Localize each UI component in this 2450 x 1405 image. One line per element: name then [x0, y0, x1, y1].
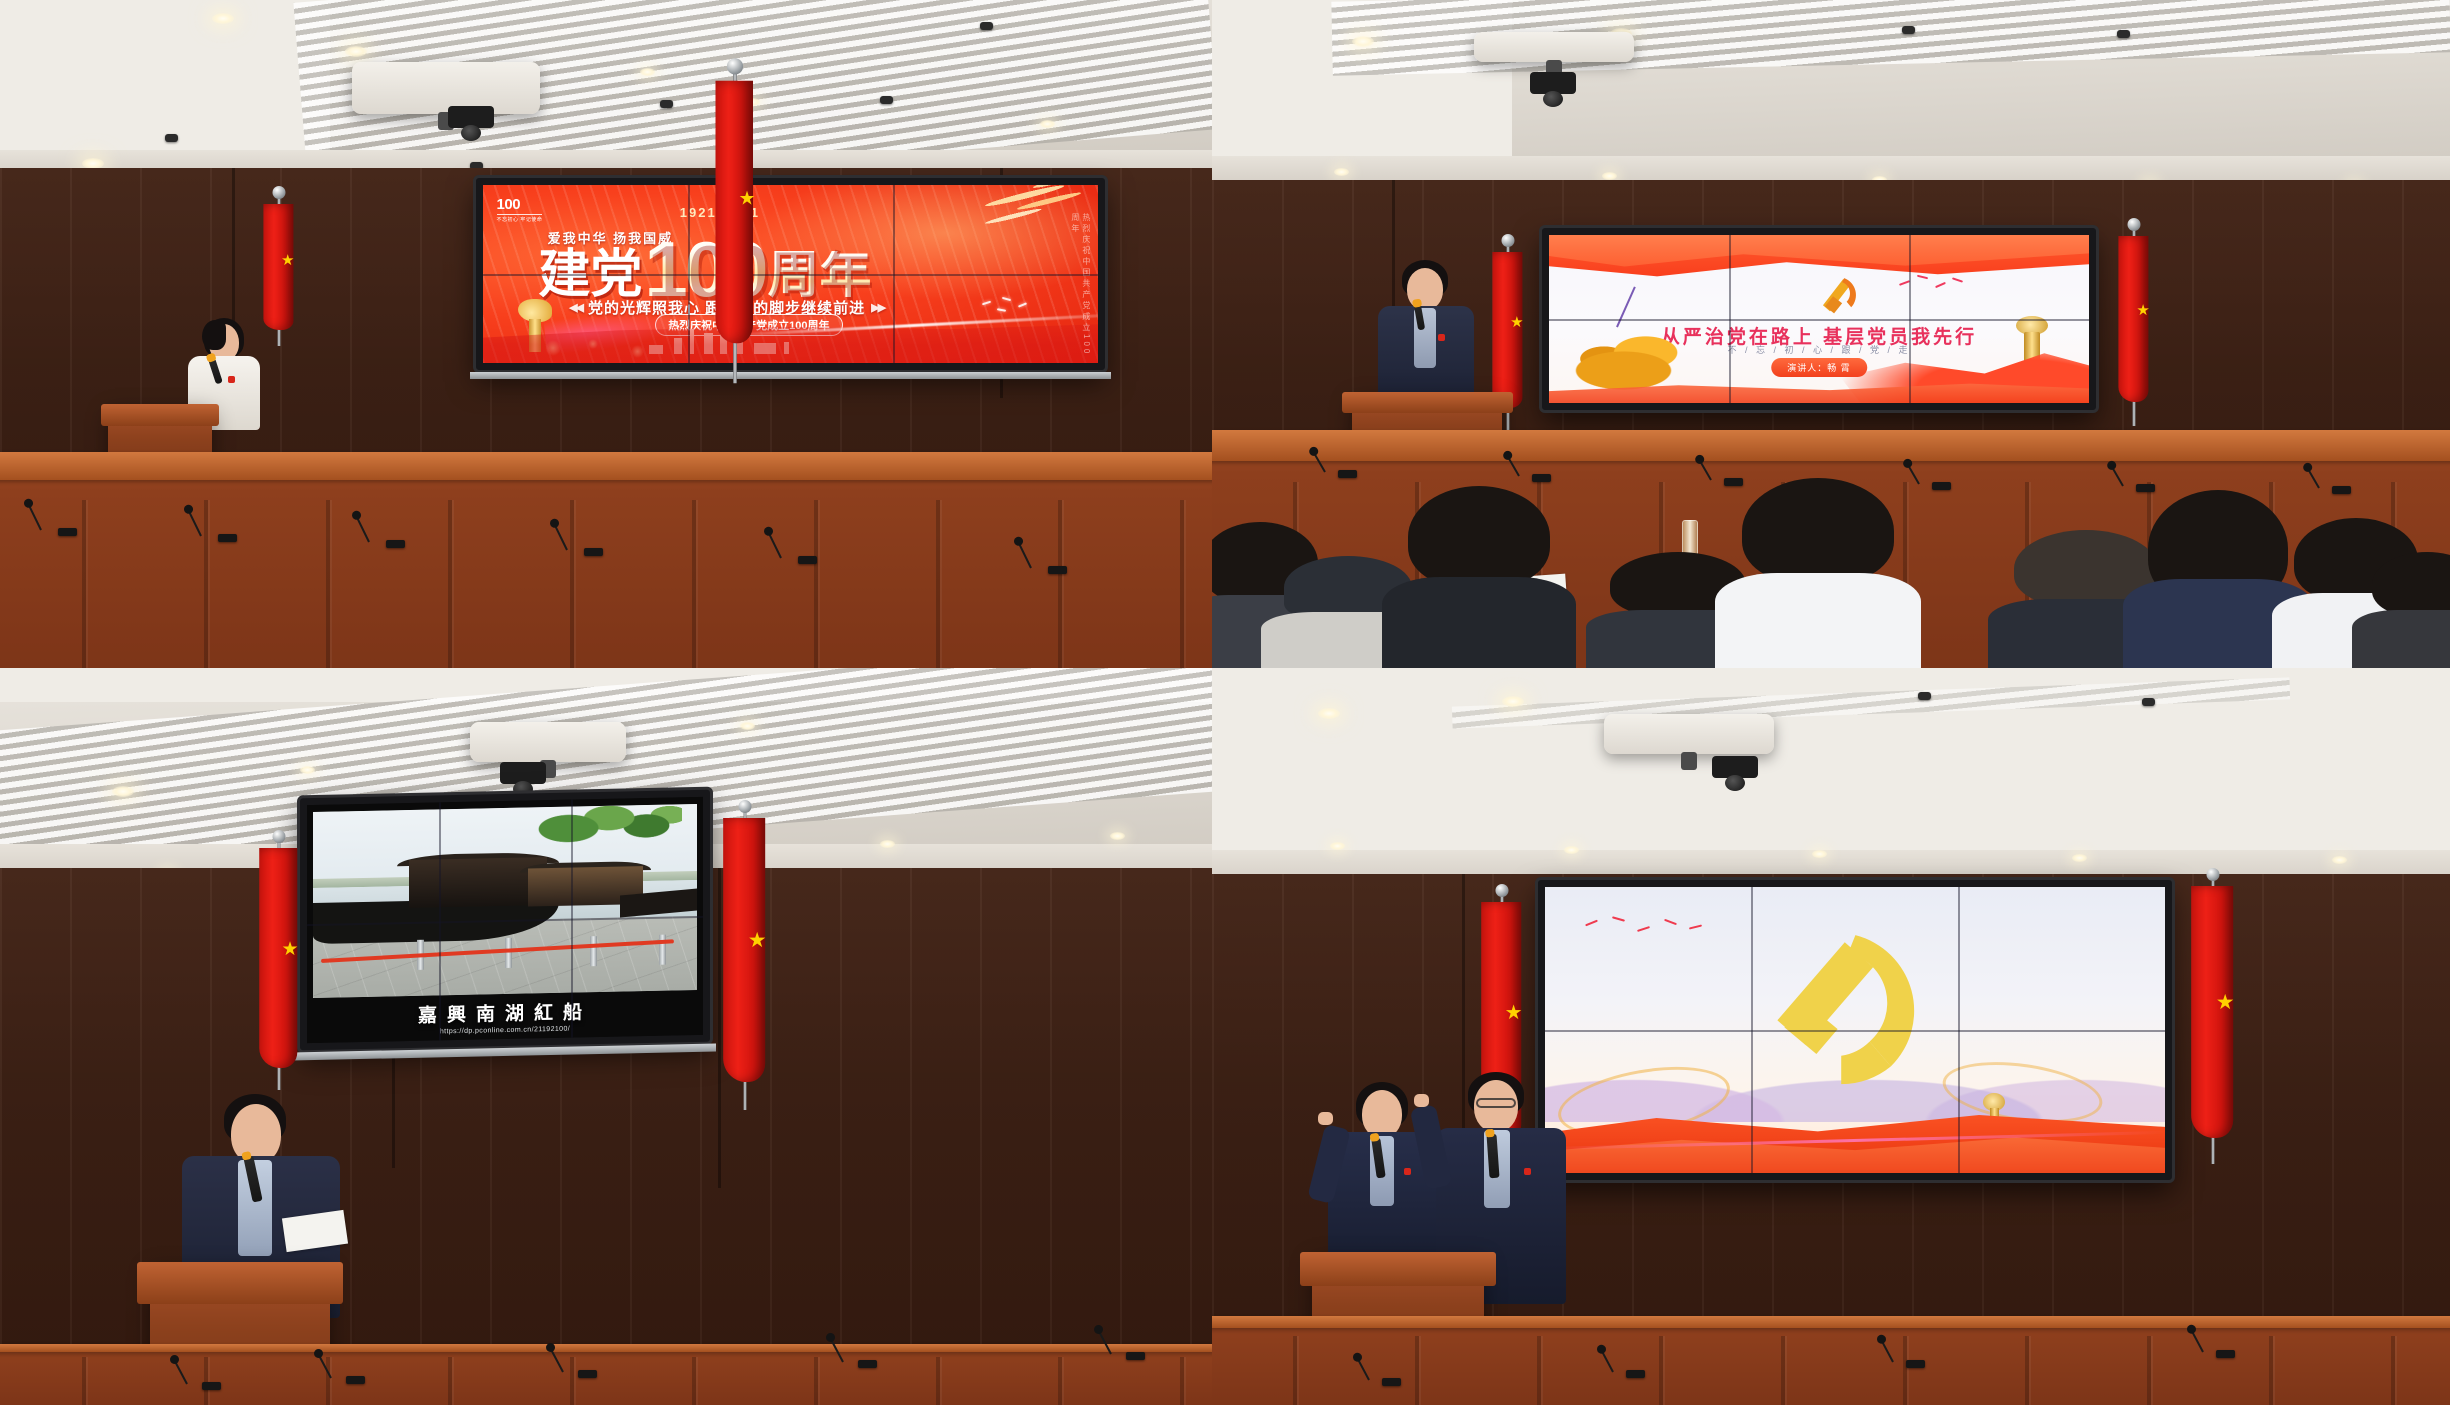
downlight	[1330, 842, 1345, 850]
tree-foliage	[520, 804, 681, 849]
downlight	[1812, 850, 1827, 858]
downlight	[1110, 832, 1125, 840]
flag-finial-icon	[2128, 218, 2141, 231]
mic-base	[578, 1370, 597, 1378]
podium-top	[1300, 1252, 1496, 1286]
head	[2372, 552, 2450, 617]
boat-cabin	[409, 857, 547, 908]
mic-base	[218, 534, 237, 542]
hammer-and-sickle-icon	[1719, 921, 1992, 1098]
downlight	[1040, 120, 1055, 128]
headline-cn2: 周年	[768, 251, 872, 300]
party-emblem-icon	[1803, 269, 1873, 319]
conference-desk	[1212, 1316, 2450, 1405]
mic-base	[1048, 566, 1067, 574]
ceiling-spot-icon	[1902, 26, 1915, 34]
doves-icon	[975, 295, 1049, 316]
downlight	[1564, 846, 1579, 854]
mic-base	[584, 548, 603, 556]
head	[1362, 1090, 1402, 1138]
flag-finial-icon	[2207, 868, 2220, 881]
shoulders	[1382, 577, 1575, 668]
conference-room: 从严治党在路上 基层党员我先行 不 / 忘 / 初 / 心 / 跟 / 党 / …	[1212, 0, 2450, 668]
photo-caption: 嘉興南湖紅船 https://dp.pconline.com.cn/211921…	[307, 995, 703, 1038]
flag-finial-icon	[273, 830, 286, 843]
mic-base	[1338, 470, 1357, 478]
shoulders	[2352, 610, 2450, 668]
mic-base	[1126, 1352, 1145, 1360]
flag-finial-icon	[1496, 884, 1509, 897]
flag-star-icon: ★	[2136, 303, 2149, 318]
led-video-wall	[1538, 880, 2172, 1180]
downlight	[300, 766, 315, 774]
audience-member	[1408, 486, 1550, 668]
panel-top-right: 从严治党在路上 基层党员我先行 不 / 忘 / 初 / 心 / 跟 / 党 / …	[1212, 0, 2450, 668]
audience-member	[2148, 490, 2288, 668]
mic-base	[346, 1376, 365, 1384]
stanchion	[590, 936, 597, 966]
mic-base	[1626, 1370, 1645, 1378]
flag-star-icon: ★	[1505, 1003, 1523, 1023]
mic-base	[386, 540, 405, 548]
projector	[1604, 714, 1774, 754]
raised-fist-icon	[1318, 1112, 1333, 1125]
conference-room: 嘉興南湖紅船 https://dp.pconline.com.cn/211921…	[0, 668, 1212, 1405]
podium-top	[137, 1262, 342, 1304]
mic-base	[1382, 1378, 1401, 1386]
downlight	[740, 722, 755, 730]
downlight	[112, 786, 134, 797]
glasses-icon	[1476, 1098, 1516, 1108]
birds-icon	[1895, 272, 1971, 292]
mic-base	[2332, 486, 2351, 494]
stanchion	[505, 938, 512, 968]
desk-lip	[1212, 1316, 2450, 1328]
desk-lip	[0, 452, 1212, 480]
flag-finial-icon	[1502, 234, 1515, 247]
flag-cloth	[2118, 236, 2148, 402]
headline-cn: 建党	[538, 251, 642, 300]
hero-statue-icon	[1565, 312, 1695, 389]
conference-desk	[0, 452, 1212, 668]
flag-cloth	[716, 81, 754, 344]
arrow-left-icon: ◀◀	[569, 301, 582, 314]
downlight	[2332, 856, 2347, 864]
panel-top-left: 100 不忘初心 牢记使命 1921-2021 爱我中华 扬我国威 建党 100…	[0, 0, 1212, 668]
wall-seam	[718, 868, 721, 1188]
slide-100th-anniversary: 100 不忘初心 牢记使命 1921-2021 爱我中华 扬我国威 建党 100…	[483, 185, 1098, 363]
party-pin-icon	[1524, 1168, 1531, 1175]
downlight	[212, 13, 234, 24]
flag-star-icon: ★	[738, 190, 755, 209]
flag-star-icon: ★	[281, 253, 294, 268]
conference-room: ★ ★	[1212, 668, 2450, 1405]
camera-icon	[1530, 72, 1576, 94]
shoulders	[1715, 573, 1922, 668]
flag-star-icon: ★	[2216, 992, 2235, 1013]
flag-left: ★	[258, 840, 300, 1090]
raised-fist-icon	[1414, 1094, 1429, 1107]
ceiling-spot-icon	[2117, 30, 2130, 38]
ceiling-spot-icon	[980, 22, 993, 30]
camera-icon	[500, 762, 546, 784]
desk-panels	[0, 500, 1212, 668]
party-pin-icon	[1438, 334, 1445, 341]
camera-icon	[1712, 756, 1758, 778]
downlight	[1334, 168, 1349, 176]
projector	[470, 722, 626, 762]
mic-base	[1724, 478, 1743, 486]
logo-number: 100	[497, 197, 543, 212]
ceiling	[1212, 668, 2450, 883]
audience-member	[2372, 552, 2450, 668]
speaker-badge: 演讲人：畅 霄	[1771, 358, 1867, 377]
downlight	[2072, 854, 2087, 862]
flag-finial-icon	[727, 58, 743, 74]
projector	[1474, 32, 1634, 62]
head	[1742, 478, 1894, 584]
desk-lip	[1212, 430, 2450, 461]
panel-bottom-right: ★ ★	[1212, 668, 2450, 1405]
slide-nanhu-red-boat: 嘉興南湖紅船 https://dp.pconline.com.cn/211921…	[307, 797, 703, 1043]
mic-base	[858, 1360, 877, 1368]
ceiling-spot-icon	[660, 100, 673, 108]
downlight	[1318, 708, 1340, 719]
male-speaker	[1374, 260, 1484, 410]
led-video-wall: 嘉興南湖紅船 https://dp.pconline.com.cn/211921…	[300, 790, 710, 1051]
arrow-right-icon: ▶▶	[871, 301, 884, 314]
ceiling	[0, 0, 1212, 175]
conference-room: 100 不忘初心 牢记使命 1921-2021 爱我中华 扬我国威 建党 100…	[0, 0, 1212, 668]
ceiling-spot-icon	[880, 96, 893, 104]
desk-lip	[0, 1344, 1212, 1352]
logo-tagline: 不忘初心 牢记使命	[497, 214, 543, 223]
mic-base	[58, 528, 77, 536]
head	[231, 1104, 281, 1164]
flag-right: ★	[706, 71, 764, 384]
flag-right: ★	[722, 810, 768, 1110]
led-video-wall: 100 不忘初心 牢记使命 1921-2021 爱我中华 扬我国威 建党 100…	[476, 178, 1105, 370]
panel-bottom-left: 嘉興南湖紅船 https://dp.pconline.com.cn/211921…	[0, 668, 1212, 1405]
podium-top	[1342, 392, 1513, 413]
screen-trim	[470, 372, 1111, 379]
red-boat-photo	[313, 804, 697, 998]
projector	[352, 62, 540, 114]
slide-headline: 建党 100 周年	[538, 238, 871, 300]
ceiling	[1212, 0, 2450, 185]
flag-finial-icon	[739, 800, 752, 813]
desk-panels	[0, 1357, 1212, 1405]
ceiling-spot-icon	[2142, 698, 2155, 706]
flag-finial-icon	[273, 186, 286, 199]
flag-star-icon: ★	[282, 940, 299, 959]
slide-party-emblem	[1545, 887, 2165, 1173]
ceiling-flat-left	[0, 0, 330, 175]
downlight	[1602, 172, 1617, 180]
downlight	[1502, 696, 1524, 707]
mic-base	[1532, 474, 1551, 482]
photo-grid: 100 不忘初心 牢记使命 1921-2021 爱我中华 扬我国威 建党 100…	[0, 0, 2450, 1405]
slide-vertical-text: 热烈庆祝中国共产党成立100周年	[1070, 213, 1092, 363]
mic-base	[798, 556, 817, 564]
camera-icon	[448, 106, 494, 128]
mic-base	[1906, 1360, 1925, 1368]
hair-fringe	[202, 320, 226, 350]
birds-icon	[1582, 916, 1706, 945]
ceiling-spot-icon	[165, 134, 178, 142]
audience-member	[1742, 478, 1894, 668]
flag-star-icon: ★	[748, 930, 767, 951]
ceiling-spot-icon	[1918, 692, 1931, 700]
anniversary-logo: 100 不忘初心 牢记使命	[497, 197, 543, 223]
downlight	[1352, 36, 1374, 47]
led-video-wall: 从严治党在路上 基层党员我先行 不 / 忘 / 初 / 心 / 跟 / 党 / …	[1542, 228, 2096, 410]
downlight	[345, 46, 367, 57]
downlight	[640, 68, 655, 76]
mic-base	[2216, 1350, 2235, 1358]
head	[1408, 486, 1550, 588]
mic-base	[202, 1382, 221, 1390]
flag-right: ★	[2190, 878, 2236, 1164]
flag-star-icon: ★	[1510, 315, 1523, 330]
party-pin-icon	[1404, 1168, 1411, 1175]
downlight	[880, 840, 895, 848]
party-pin-icon	[228, 376, 235, 383]
flag-right: ★	[2114, 228, 2154, 426]
desk-panels	[1212, 1336, 2450, 1405]
mic-base	[1932, 482, 1951, 490]
podium-top	[101, 404, 220, 426]
slide-strict-party-governance: 从严治党在路上 基层党员我先行 不 / 忘 / 初 / 心 / 跟 / 党 / …	[1549, 235, 2089, 403]
